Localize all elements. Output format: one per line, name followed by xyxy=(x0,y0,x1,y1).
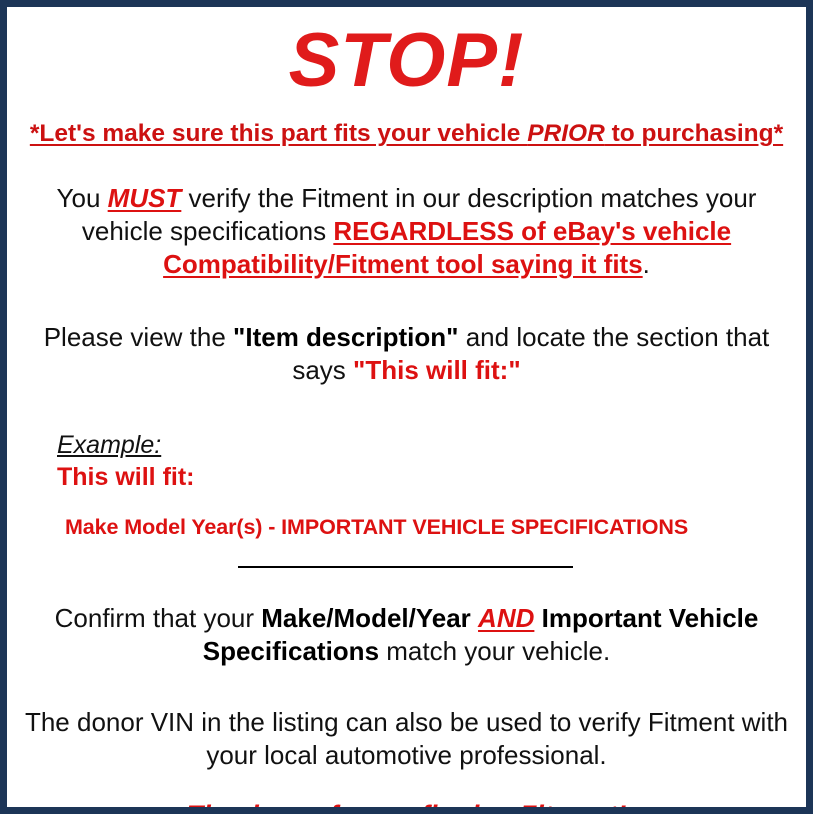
example-fit-header: This will fit: xyxy=(57,462,790,492)
make-model-year-emphasis: Make/Model/Year xyxy=(261,603,471,633)
thank-you-message: Thank you for confirming Fitment! xyxy=(23,772,790,814)
must-seg-1: You xyxy=(57,183,108,213)
confirm-paragraph: Confirm that your Make/Model/Year AND Im… xyxy=(23,568,790,668)
example-block: Example: This will fit: Make Model Year(… xyxy=(23,387,790,540)
and-emphasis: AND xyxy=(478,603,534,633)
subtitle-banner: *Let's make sure this part fits your veh… xyxy=(23,103,790,149)
subtitle-suffix: to purchasing* xyxy=(605,120,783,147)
confirm-seg-2 xyxy=(471,603,478,633)
must-seg-3: . xyxy=(643,249,650,279)
divider-container xyxy=(23,540,790,568)
subtitle-prefix: *Let's make sure this part fits your veh… xyxy=(30,120,527,147)
confirm-seg-4: match your vehicle. xyxy=(379,636,610,666)
fitment-notice-card: STOP! *Let's make sure this part fits yo… xyxy=(0,0,813,814)
item-description-emphasis: "Item description" xyxy=(233,322,458,352)
subtitle-emphasis-prior: PRIOR xyxy=(527,120,605,147)
item-seg-1: Please view the xyxy=(44,322,233,352)
notice-content: STOP! *Let's make sure this part fits yo… xyxy=(7,7,806,807)
donor-vin-paragraph: The donor VIN in the listing can also be… xyxy=(23,668,790,772)
this-will-fit-emphasis: "This will fit:" xyxy=(353,355,521,385)
confirm-seg-3 xyxy=(534,603,541,633)
item-description-paragraph: Please view the "Item description" and l… xyxy=(23,281,790,387)
page-title: STOP! xyxy=(23,7,790,103)
example-label: Example: xyxy=(57,431,161,460)
must-verify-paragraph: You MUST verify the Fitment in our descr… xyxy=(23,149,790,281)
confirm-seg-1: Confirm that your xyxy=(55,603,262,633)
example-spec-line: Make Model Year(s) - IMPORTANT VEHICLE S… xyxy=(57,492,790,540)
must-emphasis: MUST xyxy=(108,183,182,213)
